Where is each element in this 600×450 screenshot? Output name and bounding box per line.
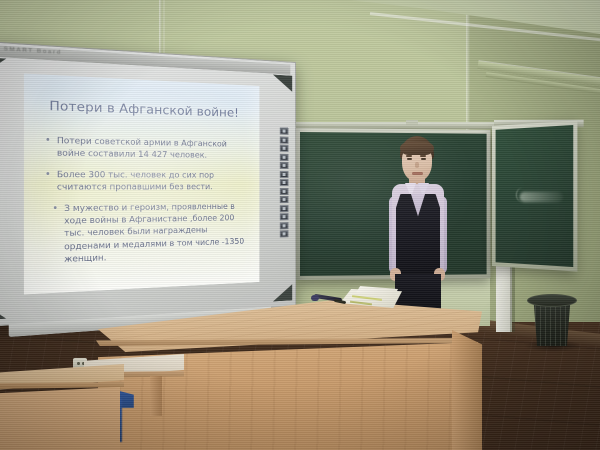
tool-glyph-icon — [283, 190, 286, 193]
tool-button-icon[interactable] — [280, 162, 289, 169]
tool-button-icon[interactable] — [280, 179, 289, 186]
tool-glyph-icon — [283, 215, 286, 218]
slide-bullet-text: Потери советской армии в Афганской войне… — [57, 134, 250, 162]
eye-left — [407, 158, 412, 160]
slide-bullet-text: З мужество и героизм, проявленные в ходе… — [64, 200, 249, 266]
bullet-marker-icon: • — [45, 134, 51, 160]
student-desk-front-panel — [0, 387, 120, 450]
tool-glyph-icon — [283, 138, 286, 141]
eyebrow-right — [420, 155, 426, 157]
tool-button-icon[interactable] — [280, 145, 289, 152]
tool-glyph-icon — [283, 164, 286, 167]
bullet-marker-icon: • — [52, 202, 58, 267]
pen-cap — [311, 295, 319, 301]
tool-button-icon[interactable] — [280, 196, 289, 203]
slide-bullet: •Потери советской армии в Афганской войн… — [45, 134, 249, 162]
slide-title: Потери в Афганской войне! — [24, 97, 259, 121]
bullet-marker-icon: • — [45, 168, 51, 194]
tool-glyph-icon — [283, 198, 286, 201]
eye-right — [421, 158, 426, 160]
classroom-photo: SMART Board Потери в Афганской войне! •П… — [0, 0, 600, 450]
outlet-socket-holes — [77, 362, 80, 365]
slide-bullet: •Более 300 тыс. человек до сих пор счита… — [45, 168, 249, 194]
tool-button-icon[interactable] — [280, 213, 289, 220]
tool-button-icon[interactable] — [280, 136, 289, 143]
slide-bullet-text: Более 300 тыс. человек до сих пор считаю… — [57, 168, 250, 194]
chalk-mark-curve — [516, 188, 525, 202]
trash-bin-rim — [527, 294, 577, 307]
tool-button-icon[interactable] — [280, 205, 289, 212]
tool-glyph-icon — [283, 232, 286, 235]
chalkboard-rail-clip — [406, 120, 418, 125]
hair-fringe — [400, 142, 434, 155]
tool-button-icon[interactable] — [280, 127, 289, 134]
tool-button-icon[interactable] — [280, 153, 289, 160]
slide-bullet: •З мужество и героизм, проявленные в ход… — [45, 200, 249, 267]
tool-glyph-icon — [283, 147, 286, 150]
tool-glyph-icon — [283, 172, 286, 175]
tool-button-icon[interactable] — [280, 170, 289, 177]
tool-button-icon[interactable] — [280, 188, 289, 195]
nose — [415, 162, 419, 168]
student-desk-leg — [150, 376, 162, 416]
tool-glyph-icon — [283, 207, 286, 210]
projected-slide: Потери в Афганской войне! •Потери советс… — [24, 73, 259, 294]
tool-button-icon[interactable] — [280, 222, 289, 229]
eyebrow-left — [406, 155, 412, 157]
chalkboard-wing-panel[interactable] — [492, 120, 577, 271]
tool-glyph-icon — [283, 130, 286, 133]
tool-button-icon[interactable] — [280, 230, 289, 237]
tool-glyph-icon — [283, 181, 286, 184]
teacher-desk-side-panel — [452, 330, 482, 450]
slide-bullet-list: •Потери советской армии в Афганской войн… — [45, 134, 249, 275]
interactive-whiteboard[interactable]: SMART Board Потери в Афганской войне! •П… — [0, 40, 296, 327]
tool-glyph-icon — [283, 155, 286, 158]
mouth — [412, 172, 423, 175]
whiteboard-toolbar-right[interactable] — [279, 127, 290, 237]
chalk-mark — [520, 192, 563, 203]
tool-glyph-icon — [283, 224, 286, 227]
